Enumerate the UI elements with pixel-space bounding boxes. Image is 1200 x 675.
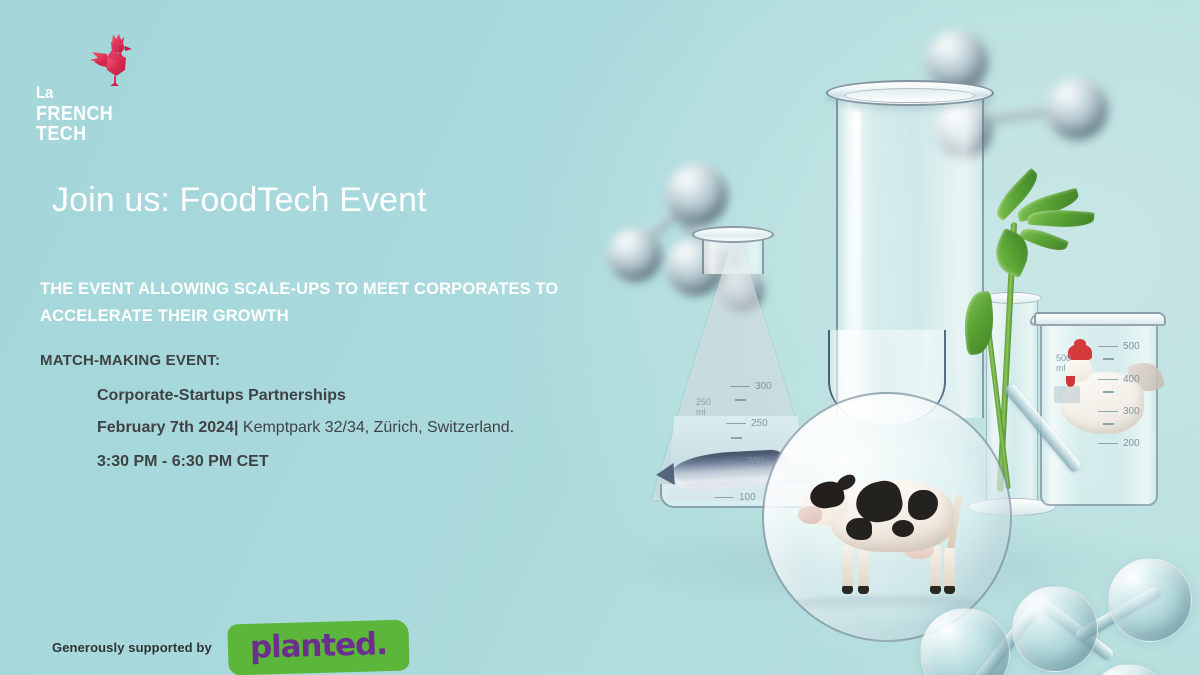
sponsor-prefix: Generously supported by bbox=[52, 640, 212, 655]
laboratory-artwork: 300 250 200 100 250 ml bbox=[0, 0, 1200, 675]
event-date-location: February 7th 2024| Kemptpark 32/34, Züri… bbox=[97, 420, 514, 436]
event-poster: 300 250 200 100 250 ml bbox=[0, 0, 1200, 675]
event-time: 3:30 PM - 6:30 PM CET bbox=[97, 454, 514, 470]
logo-text-french-tech: FRENCH TECH bbox=[36, 104, 144, 144]
logo-text-la: La bbox=[36, 84, 142, 101]
leaf-icon bbox=[961, 291, 997, 356]
event-separator: | bbox=[234, 419, 238, 436]
leaf-icon bbox=[1015, 188, 1081, 223]
surface-shadow bbox=[620, 520, 1140, 610]
event-details: Corporate-Startups Partnerships February… bbox=[97, 388, 514, 470]
molecule-model-glass bbox=[920, 400, 1200, 675]
la-french-tech-logo: La FRENCH TECH bbox=[36, 32, 156, 108]
event-date: February 7th 2024 bbox=[97, 419, 234, 436]
match-making-label: MATCH-MAKING EVENT: bbox=[40, 352, 220, 369]
sponsor-footer: Generously supported by planted. bbox=[52, 622, 409, 673]
leaf-icon bbox=[988, 228, 1035, 278]
leaf-icon bbox=[1019, 224, 1069, 256]
planted-logo-text: planted. bbox=[249, 629, 387, 664]
event-location: Kemptpark 32/34, Zürich, Switzerland. bbox=[243, 419, 514, 436]
cow-icon bbox=[796, 460, 986, 600]
leaf-icon bbox=[991, 168, 1044, 222]
event-theme: Corporate-Startups Partnerships bbox=[97, 388, 514, 404]
fish-icon bbox=[671, 449, 791, 491]
planted-logo: planted. bbox=[227, 619, 409, 675]
rooster-icon bbox=[88, 32, 134, 88]
leaf-icon bbox=[1027, 208, 1094, 230]
page-title: Join us: FoodTech Event bbox=[52, 181, 427, 220]
molecule-model-background-right bbox=[900, 12, 1110, 192]
event-subheading: THE EVENT ALLOWING SCALE-UPS TO MEET COR… bbox=[40, 276, 640, 329]
chicken-icon bbox=[1060, 372, 1144, 434]
